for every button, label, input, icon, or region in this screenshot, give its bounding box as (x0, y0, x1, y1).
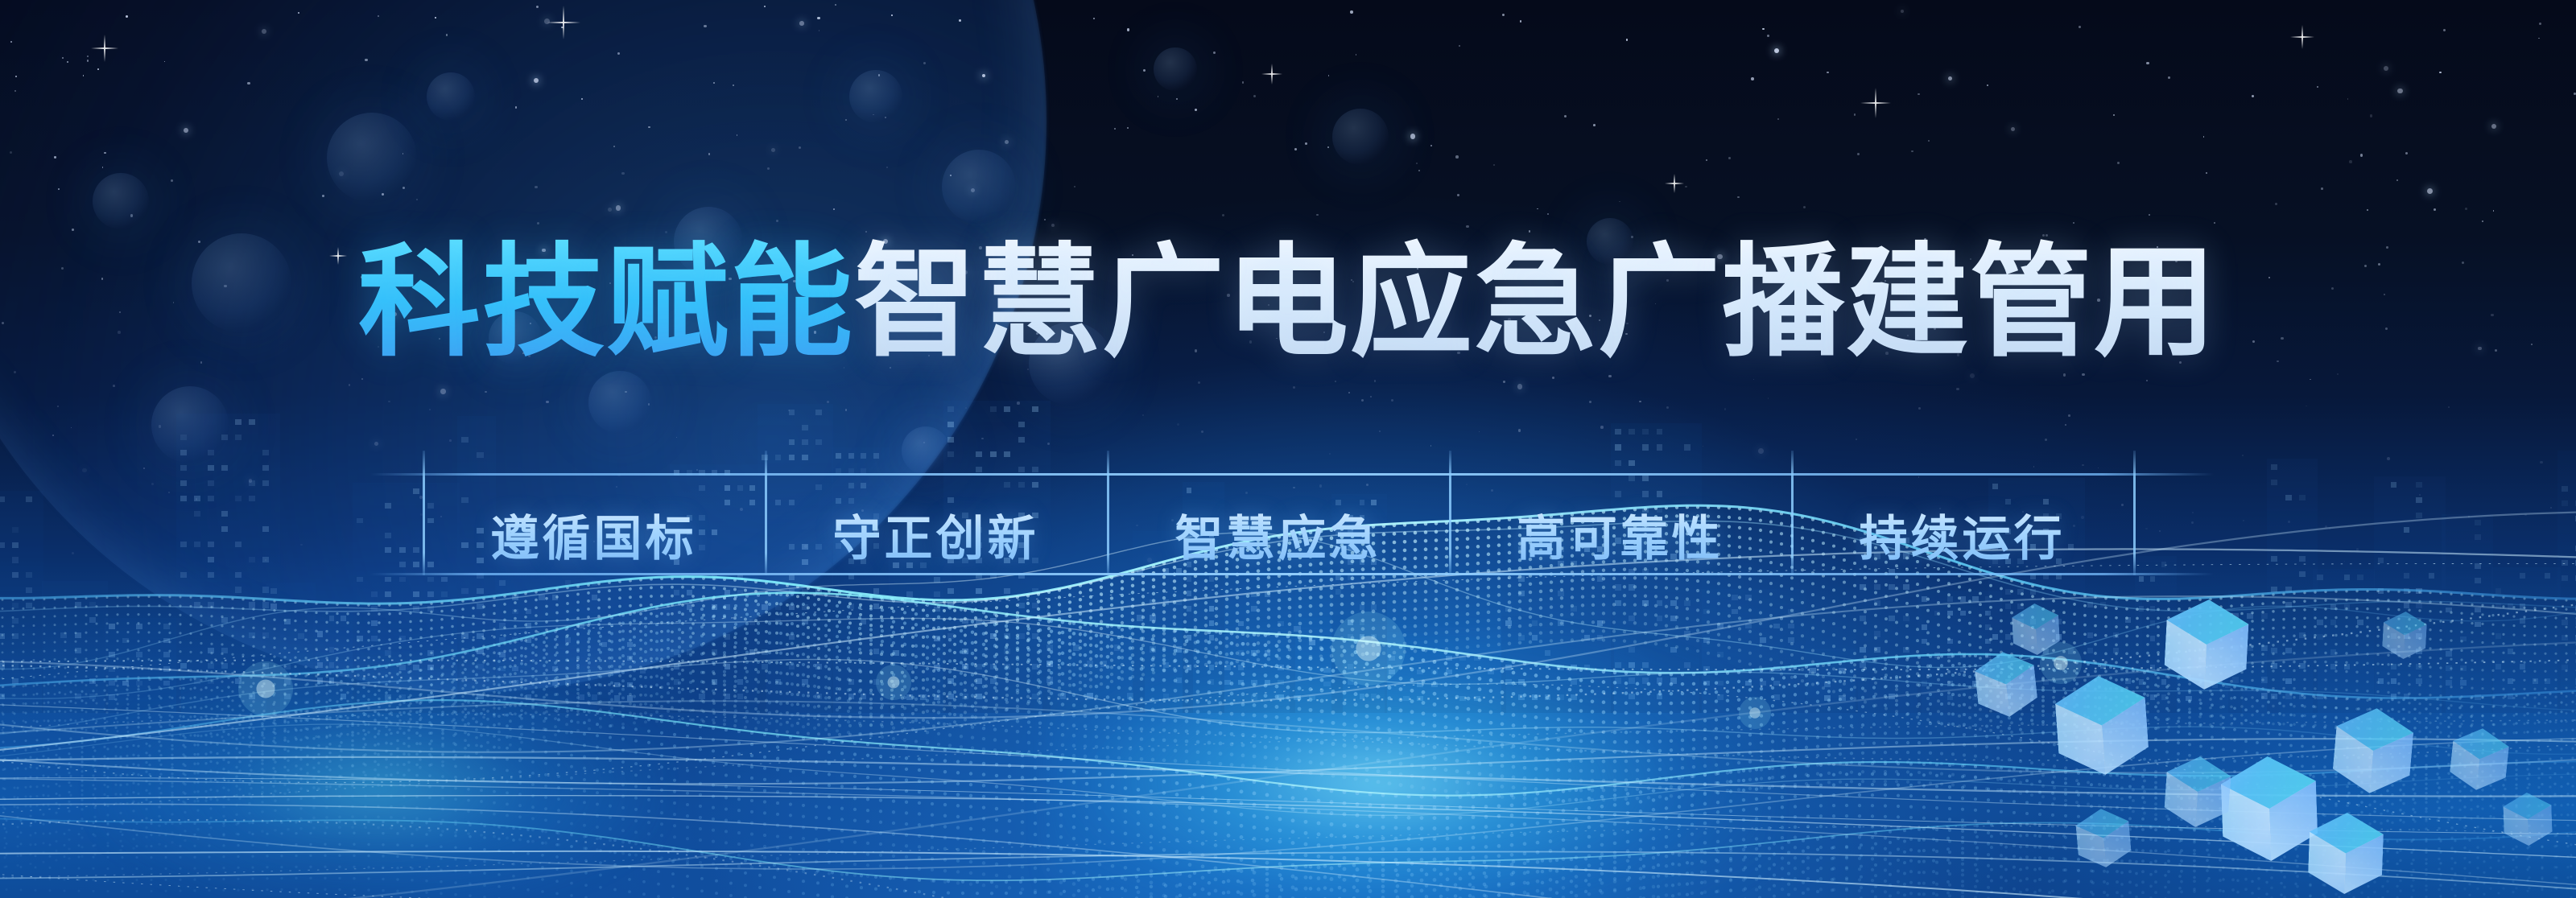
tagline-label: 高可靠性 (1517, 500, 1724, 570)
tagline-label: 智慧应急 (1175, 500, 1381, 570)
tagline-label: 遵循国标 (491, 500, 697, 570)
tagline-separator (1791, 451, 1794, 575)
tagline-label: 持续运行 (1860, 500, 2066, 570)
tagline-separator (765, 451, 767, 575)
tagline-item-1: 守正创新 (765, 451, 1107, 595)
promo-banner: 科技赋能智慧广电应急广播建管用 遵循国标 守正创新 智慧应急 高可靠性 (0, 0, 2576, 898)
tagline-separator-end (2133, 451, 2136, 575)
tagline-separator (1107, 451, 1109, 575)
tagline-item-3: 高可靠性 (1449, 451, 1791, 595)
tagline-row: 遵循国标 守正创新 智慧应急 高可靠性 持续运行 (423, 451, 2133, 595)
headline-accent-text: 科技赋能 (358, 234, 854, 371)
tagline-item-4: 持续运行 (1791, 451, 2133, 595)
tagline-item-0: 遵循国标 (423, 451, 765, 595)
page-title: 科技赋能智慧广电应急广播建管用 (0, 241, 2576, 364)
tagline-label: 守正创新 (833, 500, 1039, 570)
tagline-separator (423, 451, 425, 575)
headline-plain-text: 智慧广电应急广播建管用 (854, 234, 2218, 371)
tagline-separator (1449, 451, 1451, 575)
tagline-item-2: 智慧应急 (1107, 451, 1449, 595)
